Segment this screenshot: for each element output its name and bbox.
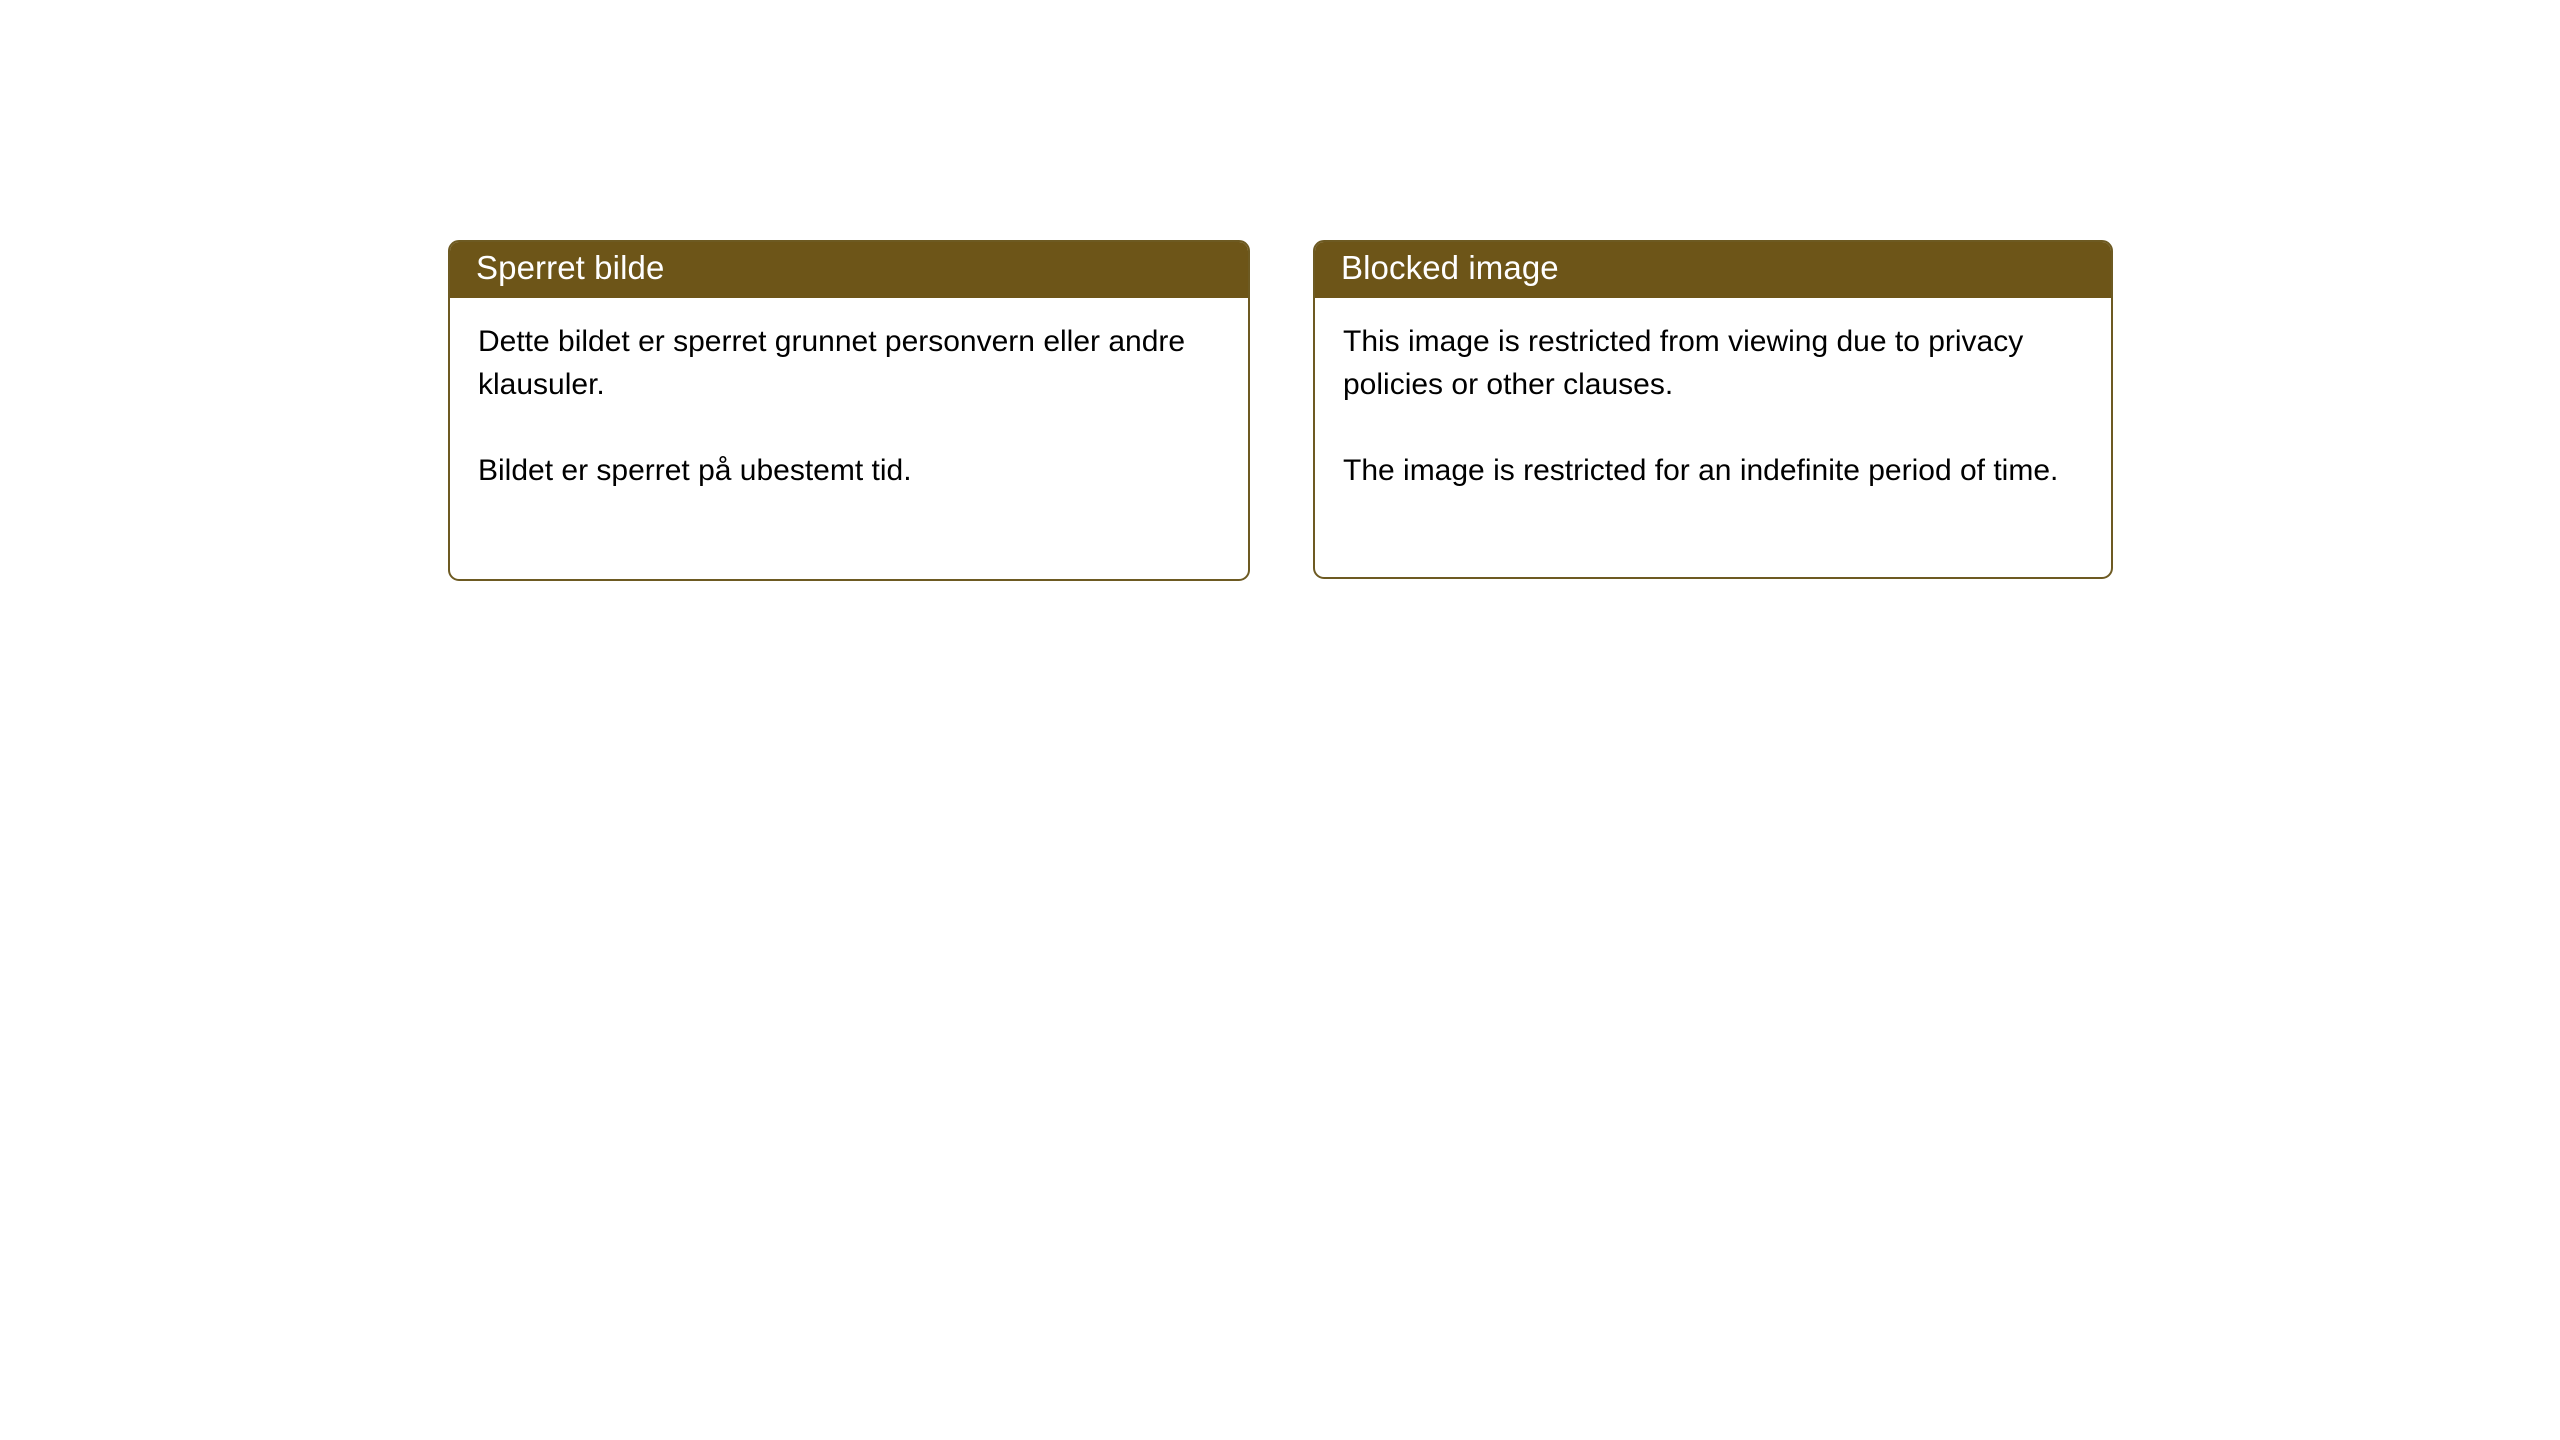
notice-paragraph-no-1: Dette bildet er sperret grunnet personve… (478, 320, 1222, 406)
notice-paragraph-en-1: This image is restricted from viewing du… (1343, 320, 2085, 406)
notice-header-no: Sperret bilde (448, 240, 1250, 298)
blocked-image-notice-en: Blocked image This image is restricted f… (1313, 240, 2113, 579)
notice-paragraph-no-2: Bildet er sperret på ubestemt tid. (478, 449, 1222, 492)
notice-title-en: Blocked image (1341, 251, 1559, 287)
page-background: Sperret bilde Dette bildet er sperret gr… (0, 0, 2560, 1440)
notice-body-en: This image is restricted from viewing du… (1315, 298, 2111, 492)
notice-header-en: Blocked image (1313, 240, 2113, 298)
blocked-image-notice-no: Sperret bilde Dette bildet er sperret gr… (448, 240, 1250, 581)
notice-body-no: Dette bildet er sperret grunnet personve… (450, 298, 1248, 492)
notice-paragraph-en-2: The image is restricted for an indefinit… (1343, 449, 2085, 492)
notice-title-no: Sperret bilde (476, 251, 664, 287)
